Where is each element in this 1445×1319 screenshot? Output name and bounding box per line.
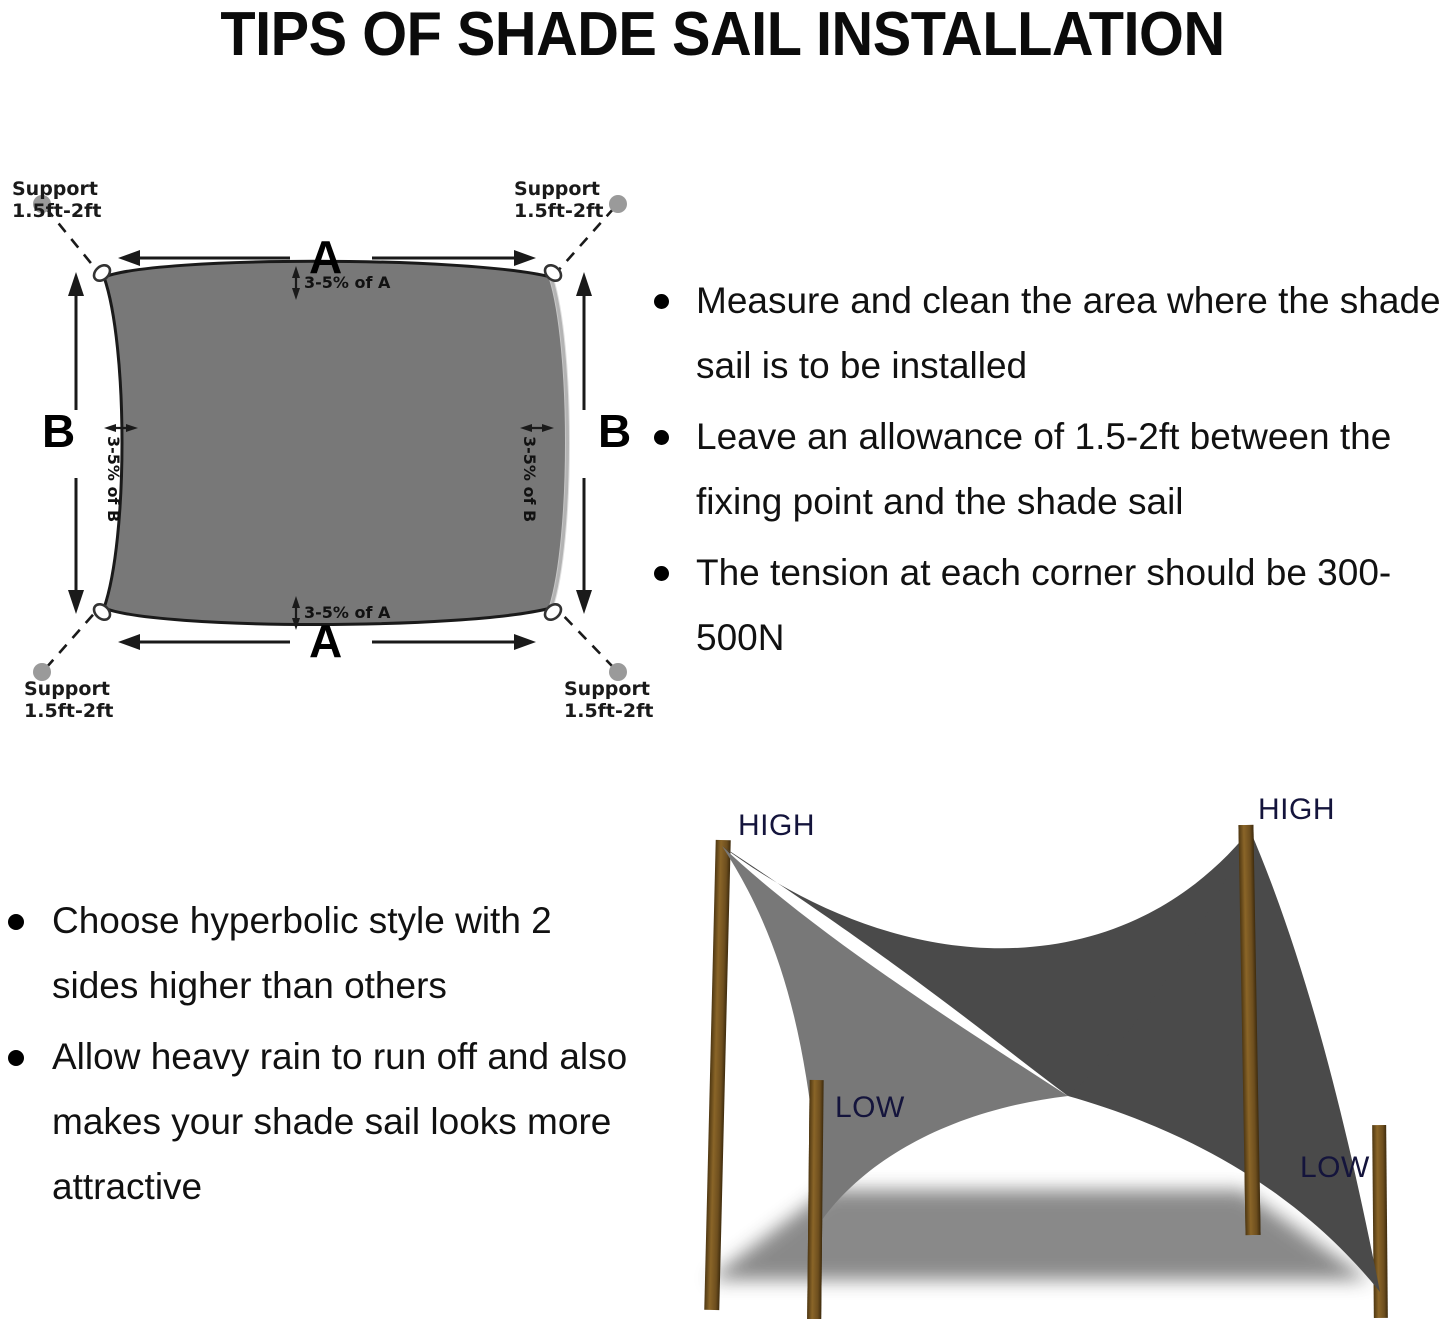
bullet-dot-icon xyxy=(654,430,669,445)
post-low-right xyxy=(1372,1125,1388,1318)
post-high-left xyxy=(704,840,730,1310)
bullet-dot-icon xyxy=(8,914,24,930)
curvature-label-top: 3-5% of A xyxy=(304,274,390,291)
list-item: Leave an allowance of 1.5-2ft between th… xyxy=(640,404,1445,534)
support-label-top-left: Support 1.5ft-2ft xyxy=(12,178,101,222)
list-item: Choose hyperbolic style with 2 sides hig… xyxy=(0,888,640,1018)
curvature-label-right: 3-5% of B xyxy=(521,436,538,522)
dimension-letter-b-right: B xyxy=(598,408,631,454)
support-label-line1: Support xyxy=(514,178,603,200)
dimension-letter-b-left: B xyxy=(42,408,75,454)
label-high-left: HIGH xyxy=(738,810,815,842)
rectangular-sail-diagram: A A B B 3-5% of A 3-5% of A 3-5% of B 3-… xyxy=(0,160,660,730)
label-low-right: LOW xyxy=(1300,1152,1370,1184)
bullet-dot-icon xyxy=(654,294,669,309)
dimension-b-right xyxy=(576,272,592,614)
label-low-left: LOW xyxy=(835,1092,905,1124)
curvature-label-left: 3-5% of B xyxy=(105,436,122,522)
list-item-text: Choose hyperbolic style with 2 sides hig… xyxy=(52,900,552,1006)
support-label-line2: 1.5ft-2ft xyxy=(12,200,101,222)
support-label-bottom-right: Support 1.5ft-2ft xyxy=(564,678,653,722)
support-label-line2: 1.5ft-2ft xyxy=(514,200,603,222)
list-item-text: Leave an allowance of 1.5-2ft between th… xyxy=(696,416,1391,522)
sail-body xyxy=(104,261,568,624)
label-high-right: HIGH xyxy=(1258,794,1335,826)
hyperbolic-sail-diagram: HIGH HIGH LOW LOW xyxy=(650,780,1445,1319)
list-item: Measure and clean the area where the sha… xyxy=(640,268,1445,398)
page-title: TIPS OF SHADE SAIL INSTALLATION xyxy=(51,2,1395,68)
ground-shadow xyxy=(708,1190,1370,1280)
support-label-line1: Support xyxy=(564,678,653,700)
support-label-line1: Support xyxy=(12,178,101,200)
post-low-left-overlay xyxy=(806,1080,823,1319)
list-item-text: Allow heavy rain to run off and also mak… xyxy=(52,1036,627,1207)
curvature-label-bottom: 3-5% of A xyxy=(304,604,390,621)
hyperbolic-sail-svg xyxy=(650,780,1445,1319)
bullet-dot-icon xyxy=(8,1050,24,1066)
dimension-letter-a-bottom: A xyxy=(309,618,342,664)
support-label-top-right: Support 1.5ft-2ft xyxy=(514,178,603,222)
installation-tips-list: Measure and clean the area where the sha… xyxy=(640,268,1445,676)
hyperbolic-tips-list: Choose hyperbolic style with 2 sides hig… xyxy=(0,888,640,1225)
list-item-text: Measure and clean the area where the sha… xyxy=(696,280,1441,386)
support-label-line2: 1.5ft-2ft xyxy=(564,700,653,722)
support-label-line2: 1.5ft-2ft xyxy=(24,700,113,722)
list-item: Allow heavy rain to run off and also mak… xyxy=(0,1024,640,1219)
list-item: The tension at each corner should be 300… xyxy=(640,540,1445,670)
list-item-text: The tension at each corner should be 300… xyxy=(696,552,1391,658)
support-label-bottom-left: Support 1.5ft-2ft xyxy=(24,678,113,722)
support-label-line1: Support xyxy=(24,678,113,700)
bullet-dot-icon xyxy=(654,566,669,581)
infographic-page: TIPS OF SHADE SAIL INSTALLATION xyxy=(0,0,1445,1319)
